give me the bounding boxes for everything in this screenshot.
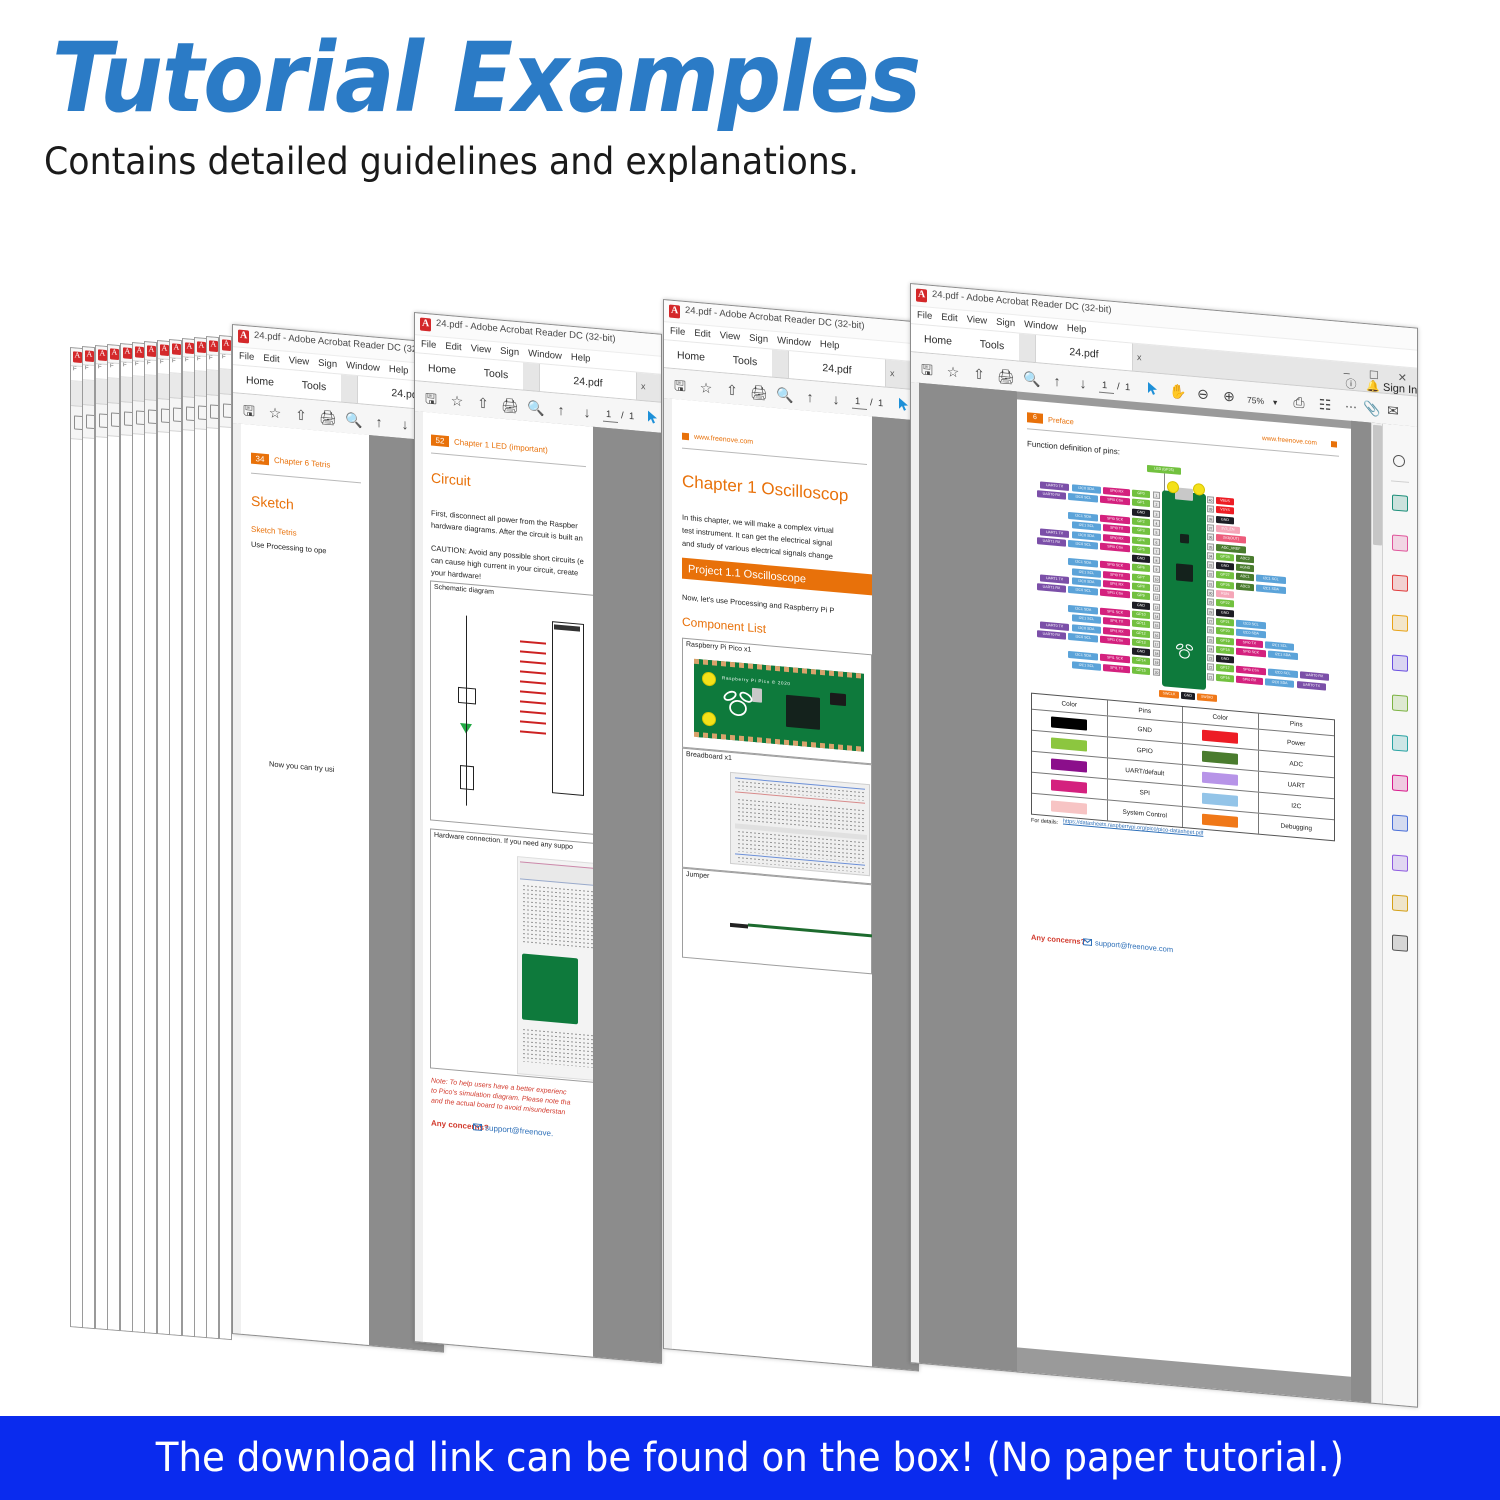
- edge-toolbar: [170, 398, 181, 432]
- pinout-right-labels: 40VBUS39VSYS38GND373V3_EN363V3(OUT)35ADC…: [1027, 454, 1339, 481]
- next-page-icon[interactable]: ↓: [579, 404, 595, 421]
- pin-label-i2c0-scl: I2C0 SCL: [1068, 493, 1098, 503]
- pin-label-gp1: GP1: [1132, 499, 1150, 508]
- edge-toolbar: [133, 401, 144, 435]
- pin-number-left-1: 1: [1153, 491, 1160, 499]
- zoom-out-icon[interactable]: ⊖: [1195, 385, 1211, 402]
- header-rule: [251, 473, 361, 484]
- pin-number-right-23: 23: [1207, 654, 1214, 662]
- menu-help[interactable]: Help: [571, 352, 591, 365]
- menu-edit[interactable]: Edit: [941, 312, 957, 324]
- pin-label-spi0-tx: SPI0 TX: [1236, 638, 1263, 647]
- tools-rail[interactable]: [1382, 424, 1417, 1407]
- previous-page-icon[interactable]: ↑: [371, 413, 387, 430]
- pin-label-gp4: GP4: [1132, 536, 1150, 545]
- pin-label-gp2: GP2: [1132, 517, 1150, 526]
- document-area[interactable]: 6 Preface www.freenove.com Function defi…: [911, 382, 1417, 1407]
- pin-label-gnd: GND: [1132, 555, 1150, 564]
- bell-icon[interactable]: 🔔: [1365, 378, 1381, 395]
- pin-label-gp0: GP0: [1132, 490, 1150, 499]
- search-icon[interactable]: 🔍: [1023, 370, 1039, 387]
- print-icon[interactable]: 🖨: [501, 397, 517, 414]
- email-icon: [1083, 938, 1092, 946]
- save-icon[interactable]: 🖫: [241, 402, 257, 419]
- tab-home[interactable]: Home: [233, 365, 287, 397]
- pin-number-right-39: 39: [1207, 505, 1214, 513]
- pin-label-i2c1-sda: I2C1 SDA: [1068, 512, 1098, 522]
- pin-number-right-32: 32: [1207, 571, 1214, 579]
- pin-label-gp13: GP13: [1132, 638, 1150, 647]
- acrobat-icon: [238, 330, 249, 344]
- pin-number-right-30: 30: [1207, 589, 1214, 597]
- edge-window-2[interactable]: F: [82, 346, 95, 1329]
- website-label: www.freenove.com: [1262, 435, 1317, 447]
- pin-label-spi0-sck: SPI0 SCK: [1100, 515, 1130, 525]
- print-icon[interactable]: 🖨: [319, 409, 335, 426]
- acrobat-icon: [135, 346, 144, 358]
- schematic-diagram-image: [518, 610, 593, 829]
- pin-number-left-2: 2: [1153, 501, 1160, 509]
- acrobat-icon: [669, 305, 680, 319]
- acrobat-window-led[interactable]: 24.pdf - Adobe Acrobat Reader DC (32-bit…: [414, 312, 662, 1364]
- edge-title-bar: [207, 337, 218, 356]
- menu-sign[interactable]: Sign: [996, 317, 1015, 330]
- pin-label-gp11: GP11: [1132, 620, 1150, 629]
- edge-body: [220, 427, 231, 1340]
- chevron-down-icon[interactable]: ▾: [1273, 397, 1277, 408]
- component-box-jumper: [682, 868, 872, 975]
- section-heading: Sketch: [251, 493, 294, 513]
- edge-title-bar: [145, 342, 156, 361]
- edge-menu-bar: F: [195, 356, 206, 372]
- pin-label-gp14: GP14: [1132, 657, 1150, 666]
- menu-edit[interactable]: Edit: [445, 341, 461, 353]
- edge-tab-bar: [133, 376, 144, 402]
- pin-label-i2c1-sda: I2C1 SDA: [1268, 650, 1298, 660]
- pin-number-right-34: 34: [1207, 552, 1214, 560]
- save-icon[interactable]: 🖫: [672, 377, 688, 394]
- pin-label-gp6: GP6: [1132, 564, 1150, 573]
- select-cursor-icon[interactable]: [647, 410, 659, 425]
- edge-menu-bar: F: [71, 366, 82, 382]
- component-list-heading: Component List: [682, 615, 766, 636]
- edge-title-bar: [170, 340, 181, 359]
- tab-home[interactable]: Home: [664, 340, 718, 372]
- pin-number-right-35: 35: [1207, 543, 1214, 551]
- menu-help[interactable]: Help: [1067, 323, 1087, 336]
- acrobat-icon: [123, 347, 132, 359]
- tab-close-icon[interactable]: x: [641, 381, 646, 391]
- pin-label-spi1-tx: SPI1 TX: [1103, 664, 1130, 673]
- document-area[interactable]: 52 Chapter 1 LED (important) Circuit Fir…: [415, 411, 661, 1363]
- page-number-badge: 52: [431, 434, 449, 447]
- edge-body: [108, 436, 119, 1331]
- protect-icon[interactable]: [1392, 814, 1408, 831]
- star-icon[interactable]: ☆: [945, 363, 961, 380]
- page-gutter: [593, 427, 662, 1363]
- pin-label-agnd: AGND: [1236, 564, 1254, 573]
- edge-body: [133, 434, 144, 1333]
- hand-icon[interactable]: ✋: [1169, 383, 1185, 400]
- acrobat-icon: [172, 343, 181, 355]
- pin-label-i2c0-scl: I2C0 SCL: [1268, 669, 1298, 679]
- comment-icon[interactable]: [1392, 614, 1408, 631]
- star-icon[interactable]: ☆: [267, 404, 283, 421]
- edge-body: [207, 428, 218, 1339]
- menu-window[interactable]: Window: [1024, 319, 1058, 333]
- pin-label-i2c0-scl: I2C0 SCL: [1068, 540, 1098, 550]
- pin-label-spi0-tx: SPI0 TX: [1103, 524, 1130, 533]
- send-for-comments-icon[interactable]: [1392, 894, 1408, 911]
- menu-window[interactable]: Window: [346, 360, 380, 374]
- page-separator: /: [621, 410, 624, 421]
- select-cursor-icon[interactable]: [898, 397, 910, 412]
- pin-number-left-15: 15: [1153, 622, 1160, 630]
- pin-label-gnd: GND: [1216, 516, 1234, 525]
- menu-edit[interactable]: Edit: [694, 328, 710, 340]
- acrobat-icon: [147, 345, 156, 357]
- redact-icon[interactable]: [1392, 774, 1408, 791]
- menu-view[interactable]: View: [289, 355, 309, 368]
- edge-menu-bar: F: [170, 358, 181, 374]
- pin-label-gp16: GP16: [1216, 674, 1234, 683]
- upload-icon[interactable]: ⇧: [724, 381, 740, 398]
- pico-pinout-diagram: LED (GP25) Raspberry Pi Pico © 2020: [1027, 454, 1339, 711]
- pin-number-left-8: 8: [1153, 556, 1160, 564]
- legend-color-swatch: [1202, 750, 1238, 764]
- pin-label-uart1-rx: UART1 RX: [1037, 537, 1067, 547]
- menu-file[interactable]: File: [239, 351, 254, 363]
- pin-label-3v3-en: 3V3_EN: [1216, 525, 1240, 534]
- chapter-label: Preface: [1048, 415, 1074, 426]
- acrobat-window-pinout[interactable]: 24.pdf - Adobe Acrobat Reader DC (32-bit…: [910, 283, 1418, 1408]
- star-icon[interactable]: ☆: [698, 379, 714, 396]
- attach-icon[interactable]: 📎: [1363, 400, 1379, 417]
- red-note: Note: To help users have a better experi…: [431, 1076, 593, 1121]
- pico-silkscreen: Raspberry Pi Pico © 2020: [722, 675, 791, 686]
- star-icon[interactable]: ☆: [449, 392, 465, 409]
- acrobat-icon: [98, 349, 107, 361]
- section-subheading: Sketch Tetris: [251, 525, 297, 538]
- acrobat-window-tetris[interactable]: 24.pdf - Adobe Acrobat Reader DC (32-bit…: [232, 324, 444, 1353]
- pin-label-i2c0-sda: I2C0 SDA: [1236, 629, 1266, 639]
- freenove-logo-icon: [682, 433, 689, 441]
- pin-number-left-4: 4: [1153, 519, 1160, 527]
- pin-label-uart0-tx: UART0 TX: [1040, 621, 1070, 631]
- pdf-page: 6 Preface www.freenove.com Function defi…: [1017, 399, 1351, 1376]
- upload-icon[interactable]: ⇧: [971, 365, 987, 382]
- pin-number-left-20: 20: [1153, 668, 1160, 676]
- chapter-label: Chapter 6 Tetris: [274, 456, 330, 470]
- pico-led-a: [1167, 481, 1179, 494]
- tab-close-icon[interactable]: x: [890, 368, 895, 378]
- acrobat-icon: [916, 289, 927, 303]
- next-page-icon[interactable]: ↓: [828, 391, 844, 408]
- pin-number-left-18: 18: [1153, 649, 1160, 657]
- pin-label-adc0: ADC0: [1236, 582, 1254, 591]
- edge-window-10[interactable]: F: [182, 338, 195, 1337]
- tab-tools[interactable]: Tools: [287, 370, 341, 402]
- pin-label-gp22: GP22: [1216, 599, 1234, 608]
- help-icon[interactable]: ⓘ: [1343, 376, 1359, 393]
- legend-color-swatch: [1202, 729, 1238, 743]
- upload-icon[interactable]: ⇧: [475, 394, 491, 411]
- menu-help[interactable]: Help: [820, 339, 840, 352]
- previous-page-icon[interactable]: ↑: [1049, 372, 1065, 389]
- acrobat-icon: [197, 341, 206, 353]
- edge-title-bar: [71, 348, 82, 367]
- edge-toolbar: [220, 394, 231, 428]
- menu-file[interactable]: File: [421, 339, 436, 351]
- pico-led-b: [1193, 483, 1205, 496]
- tab-home[interactable]: Home: [911, 324, 965, 356]
- print-icon[interactable]: 🖨: [997, 368, 1013, 385]
- edge-window-12[interactable]: F: [206, 336, 219, 1339]
- edge-tab-bar: [183, 372, 194, 398]
- read-mode-icon[interactable]: ☷: [1317, 396, 1333, 413]
- acrobat-icon: [222, 339, 231, 351]
- select-cursor-icon[interactable]: [1147, 381, 1159, 396]
- pin-number-left-14: 14: [1153, 612, 1160, 620]
- edge-window-9[interactable]: F: [169, 339, 182, 1336]
- rail-separator: [1391, 480, 1409, 483]
- legend-color-swatch: [1202, 771, 1238, 785]
- edge-tab-bar: [170, 373, 181, 399]
- export-pdf-icon[interactable]: [1392, 494, 1408, 511]
- edge-title-bar: [133, 343, 144, 362]
- page-current: 1: [1102, 380, 1107, 391]
- edge-body: [145, 433, 156, 1334]
- document-area[interactable]: www.freenove.com Chapter 1 Oscilloscop I…: [664, 398, 918, 1370]
- pin-label-i2c1-scl: I2C1 SCL: [1072, 614, 1102, 624]
- chapter-heading: Chapter 1 Oscilloscop: [682, 472, 848, 507]
- pdf-page: www.freenove.com Chapter 1 Oscilloscop I…: [672, 399, 872, 1367]
- menu-window[interactable]: Window: [528, 348, 562, 362]
- create-pdf-icon[interactable]: [1392, 534, 1408, 551]
- page-total: 1: [629, 411, 634, 422]
- pin-label-gp18: GP18: [1216, 646, 1234, 655]
- debug-label-swclk: SWCLK: [1159, 690, 1179, 699]
- pinout-left-labels: 1GP0SPI0 RXI2C0 SDAUART0 TX2GP1SPI0 CSnI…: [1027, 454, 1339, 481]
- edge-title-bar: [195, 338, 206, 357]
- menu-file[interactable]: File: [670, 326, 685, 338]
- menu-sign[interactable]: Sign: [318, 358, 337, 371]
- pin-number-left-6: 6: [1153, 538, 1160, 546]
- edge-toolbar: [121, 402, 132, 436]
- acrobat-icon: [209, 340, 218, 352]
- edge-menu-bar: F: [207, 355, 218, 371]
- tab-close-icon[interactable]: x: [1137, 352, 1142, 362]
- edge-toolbar: [158, 399, 169, 433]
- pin-label-gp7: GP7: [1132, 573, 1150, 582]
- menu-sign[interactable]: Sign: [500, 346, 519, 359]
- pin-label-uart1-tx: UART1 TX: [1040, 528, 1070, 538]
- pin-label-i2c0-sda: I2C0 SDA: [1072, 531, 1102, 541]
- website-label: www.freenove.com: [694, 434, 753, 446]
- project-body: Now, let's use Processing and Raspberry …: [682, 592, 872, 620]
- edge-menu-bar: F: [133, 361, 144, 377]
- footer-body-text: Now you can try usi: [269, 758, 369, 780]
- edge-menu-bar: F: [108, 363, 119, 379]
- edge-window-7[interactable]: F: [144, 341, 157, 1334]
- breadboard-image: [730, 772, 870, 876]
- chapter-label: Chapter 1 LED (important): [454, 438, 548, 455]
- document-area[interactable]: 34 Chapter 6 Tetris Sketch Sketch Tetris…: [233, 423, 443, 1351]
- menu-view[interactable]: View: [471, 343, 491, 356]
- edge-tab-bar: [121, 377, 132, 403]
- pin-number-left-13: 13: [1153, 603, 1160, 611]
- edge-title-bar: [121, 344, 132, 363]
- pin-label-i2c0-sda: I2C0 SDA: [1072, 624, 1102, 634]
- pin-number-left-12: 12: [1153, 594, 1160, 602]
- support-email-link[interactable]: support@freenove.com: [1095, 938, 1173, 954]
- pin-number-left-17: 17: [1153, 640, 1160, 648]
- edge-menu-bar: F: [183, 357, 194, 373]
- pin-number-left-10: 10: [1153, 575, 1160, 583]
- menu-edit[interactable]: Edit: [263, 353, 279, 365]
- tab-tools[interactable]: Tools: [718, 345, 772, 377]
- previous-page-icon[interactable]: ↑: [553, 401, 569, 418]
- edge-title-bar: [158, 341, 169, 360]
- page-current: 1: [855, 396, 860, 407]
- legend-color-swatch: [1051, 779, 1087, 793]
- search-tool-icon[interactable]: [1393, 455, 1405, 468]
- scrollbar-thumb[interactable]: [1373, 425, 1382, 546]
- sign-in-button[interactable]: Sign In: [1383, 382, 1417, 397]
- pin-number-right-40: 40: [1207, 496, 1214, 504]
- more-tools-icon[interactable]: [1392, 934, 1408, 951]
- pin-label-spi0-rx: SPI0 RX: [1103, 534, 1130, 543]
- search-icon[interactable]: 🔍: [345, 411, 361, 428]
- edge-window-5[interactable]: F: [120, 343, 133, 1332]
- support-email-link[interactable]: support@freenove.: [485, 1123, 553, 1138]
- pin-label-gp8: GP8: [1132, 583, 1150, 592]
- email-icon: [473, 1123, 482, 1131]
- pin-number-right-36: 36: [1207, 533, 1214, 541]
- edge-toolbar: [108, 403, 119, 437]
- menu-file[interactable]: File: [917, 310, 932, 322]
- fill-sign-icon[interactable]: [1392, 854, 1408, 871]
- acrobat-icon: [73, 351, 82, 363]
- pin-label-spi1-sck: SPI1 SCK: [1100, 608, 1130, 618]
- tab-tools[interactable]: Tools: [965, 329, 1019, 361]
- pin-number-right-31: 31: [1207, 580, 1214, 588]
- edge-tab-bar: [195, 371, 206, 397]
- edge-body: [121, 435, 132, 1332]
- pico-led-left: [702, 671, 716, 686]
- edge-window-4[interactable]: F: [107, 344, 120, 1331]
- edge-window-8[interactable]: F: [157, 340, 170, 1335]
- tab-tools[interactable]: Tools: [469, 358, 523, 390]
- body-text: Use Processing to ope: [251, 539, 369, 561]
- scan-ocr-icon[interactable]: [1392, 734, 1408, 751]
- menu-help[interactable]: Help: [389, 364, 409, 377]
- pin-label-spi1-csn: SPI1 CSn: [1100, 589, 1130, 599]
- acrobat-icon: [160, 344, 169, 356]
- pdf-page: 34 Chapter 6 Tetris Sketch Sketch Tetris…: [241, 424, 369, 1345]
- download-banner: The download link can be found on the bo…: [0, 1416, 1500, 1500]
- debug-label-gnd: GND: [1181, 692, 1195, 700]
- edge-window-13[interactable]: F: [219, 335, 232, 1340]
- pin-number-right-29: 29: [1207, 598, 1214, 606]
- pin-number-left-16: 16: [1153, 631, 1160, 639]
- menu-window[interactable]: Window: [777, 335, 811, 349]
- menu-view[interactable]: View: [967, 314, 987, 327]
- legend-color-swatch: [1051, 800, 1087, 814]
- edge-toolbar: [83, 405, 94, 439]
- pin-label-i2c0-sda: I2C0 SDA: [1072, 484, 1102, 494]
- pin-label-spi0-sck: SPI0 SCK: [1100, 561, 1130, 571]
- pico-board-graphic: Raspberry Pi Pico © 2020: [1162, 490, 1206, 690]
- edge-tab-bar: [207, 370, 218, 396]
- edge-window-3[interactable]: F: [95, 345, 108, 1330]
- pin-label-i2c1-scl: I2C1 SCL: [1072, 661, 1102, 671]
- pin-label-spi1-tx: SPI1 TX: [1103, 617, 1130, 626]
- save-icon[interactable]: 🖫: [919, 361, 935, 378]
- combine-files-icon[interactable]: [1392, 654, 1408, 671]
- pin-label-gp28: GP28: [1216, 553, 1234, 562]
- edge-toolbar: [145, 400, 156, 434]
- zoom-level[interactable]: 75%: [1247, 395, 1264, 406]
- acrobat-icon: [85, 350, 94, 362]
- edge-title-bar: [183, 339, 194, 358]
- next-page-icon[interactable]: ↓: [1075, 375, 1091, 392]
- pin-label-i2c0-scl: I2C0 SCL: [1068, 586, 1098, 596]
- pin-label-run: RUN: [1216, 590, 1234, 599]
- previous-page-icon[interactable]: ↑: [802, 388, 818, 405]
- pin-label-uart0-tx: UART0 TX: [1040, 481, 1070, 491]
- acrobat-window-oscilloscope[interactable]: 24.pdf - Adobe Acrobat Reader DC (32-bit…: [663, 299, 919, 1372]
- pin-label-uart0-rx: UART0 RX: [1300, 672, 1330, 682]
- edit-pdf-icon[interactable]: [1392, 574, 1408, 591]
- legend-color-swatch: [1051, 716, 1087, 730]
- pin-label-gp21: GP21: [1216, 618, 1234, 627]
- organize-pages-icon[interactable]: [1392, 694, 1408, 711]
- menu-sign[interactable]: Sign: [749, 333, 768, 346]
- search-icon[interactable]: 🔍: [527, 399, 543, 416]
- edge-title-bar: [83, 347, 94, 366]
- edge-tab-bar: [145, 375, 156, 401]
- project-band: Project 1.1 Oscilloscope: [682, 558, 872, 596]
- pin-number-right-26: 26: [1207, 626, 1214, 634]
- edge-title-bar: [96, 346, 107, 365]
- pin-number-right-21: 21: [1207, 673, 1214, 681]
- edge-body: [96, 437, 107, 1330]
- email-icon[interactable]: ✉: [1385, 402, 1401, 419]
- legend-color-swatch: [1202, 792, 1238, 806]
- edge-menu-bar: F: [145, 360, 156, 376]
- rp2040-chip: [786, 695, 820, 730]
- save-icon[interactable]: 🖫: [423, 390, 439, 407]
- pin-label-gp26: GP26: [1216, 581, 1234, 590]
- page-total: 1: [1125, 382, 1130, 393]
- print-icon[interactable]: 🖨: [750, 384, 766, 401]
- legend-color-swatch: [1051, 758, 1087, 772]
- pin-number-right-25: 25: [1207, 636, 1214, 644]
- next-page-icon[interactable]: ↓: [397, 416, 413, 433]
- zoom-in-icon[interactable]: ⊕: [1221, 387, 1237, 404]
- pin-label-spi0-csn: SPI0 CSn: [1236, 666, 1266, 676]
- pin-label-spi0-rx: SPI0 RX: [1103, 487, 1130, 496]
- pin-label-gp20: GP20: [1216, 627, 1234, 636]
- menu-view[interactable]: View: [720, 330, 740, 343]
- search-icon[interactable]: 🔍: [776, 386, 792, 403]
- tab-home[interactable]: Home: [415, 353, 469, 385]
- upload-icon[interactable]: ⇧: [293, 406, 309, 423]
- fit-page-icon[interactable]: ⎙: [1291, 394, 1307, 411]
- legend-color-swatch: [1202, 813, 1238, 827]
- more-options-icon[interactable]: ⋯: [1343, 398, 1359, 415]
